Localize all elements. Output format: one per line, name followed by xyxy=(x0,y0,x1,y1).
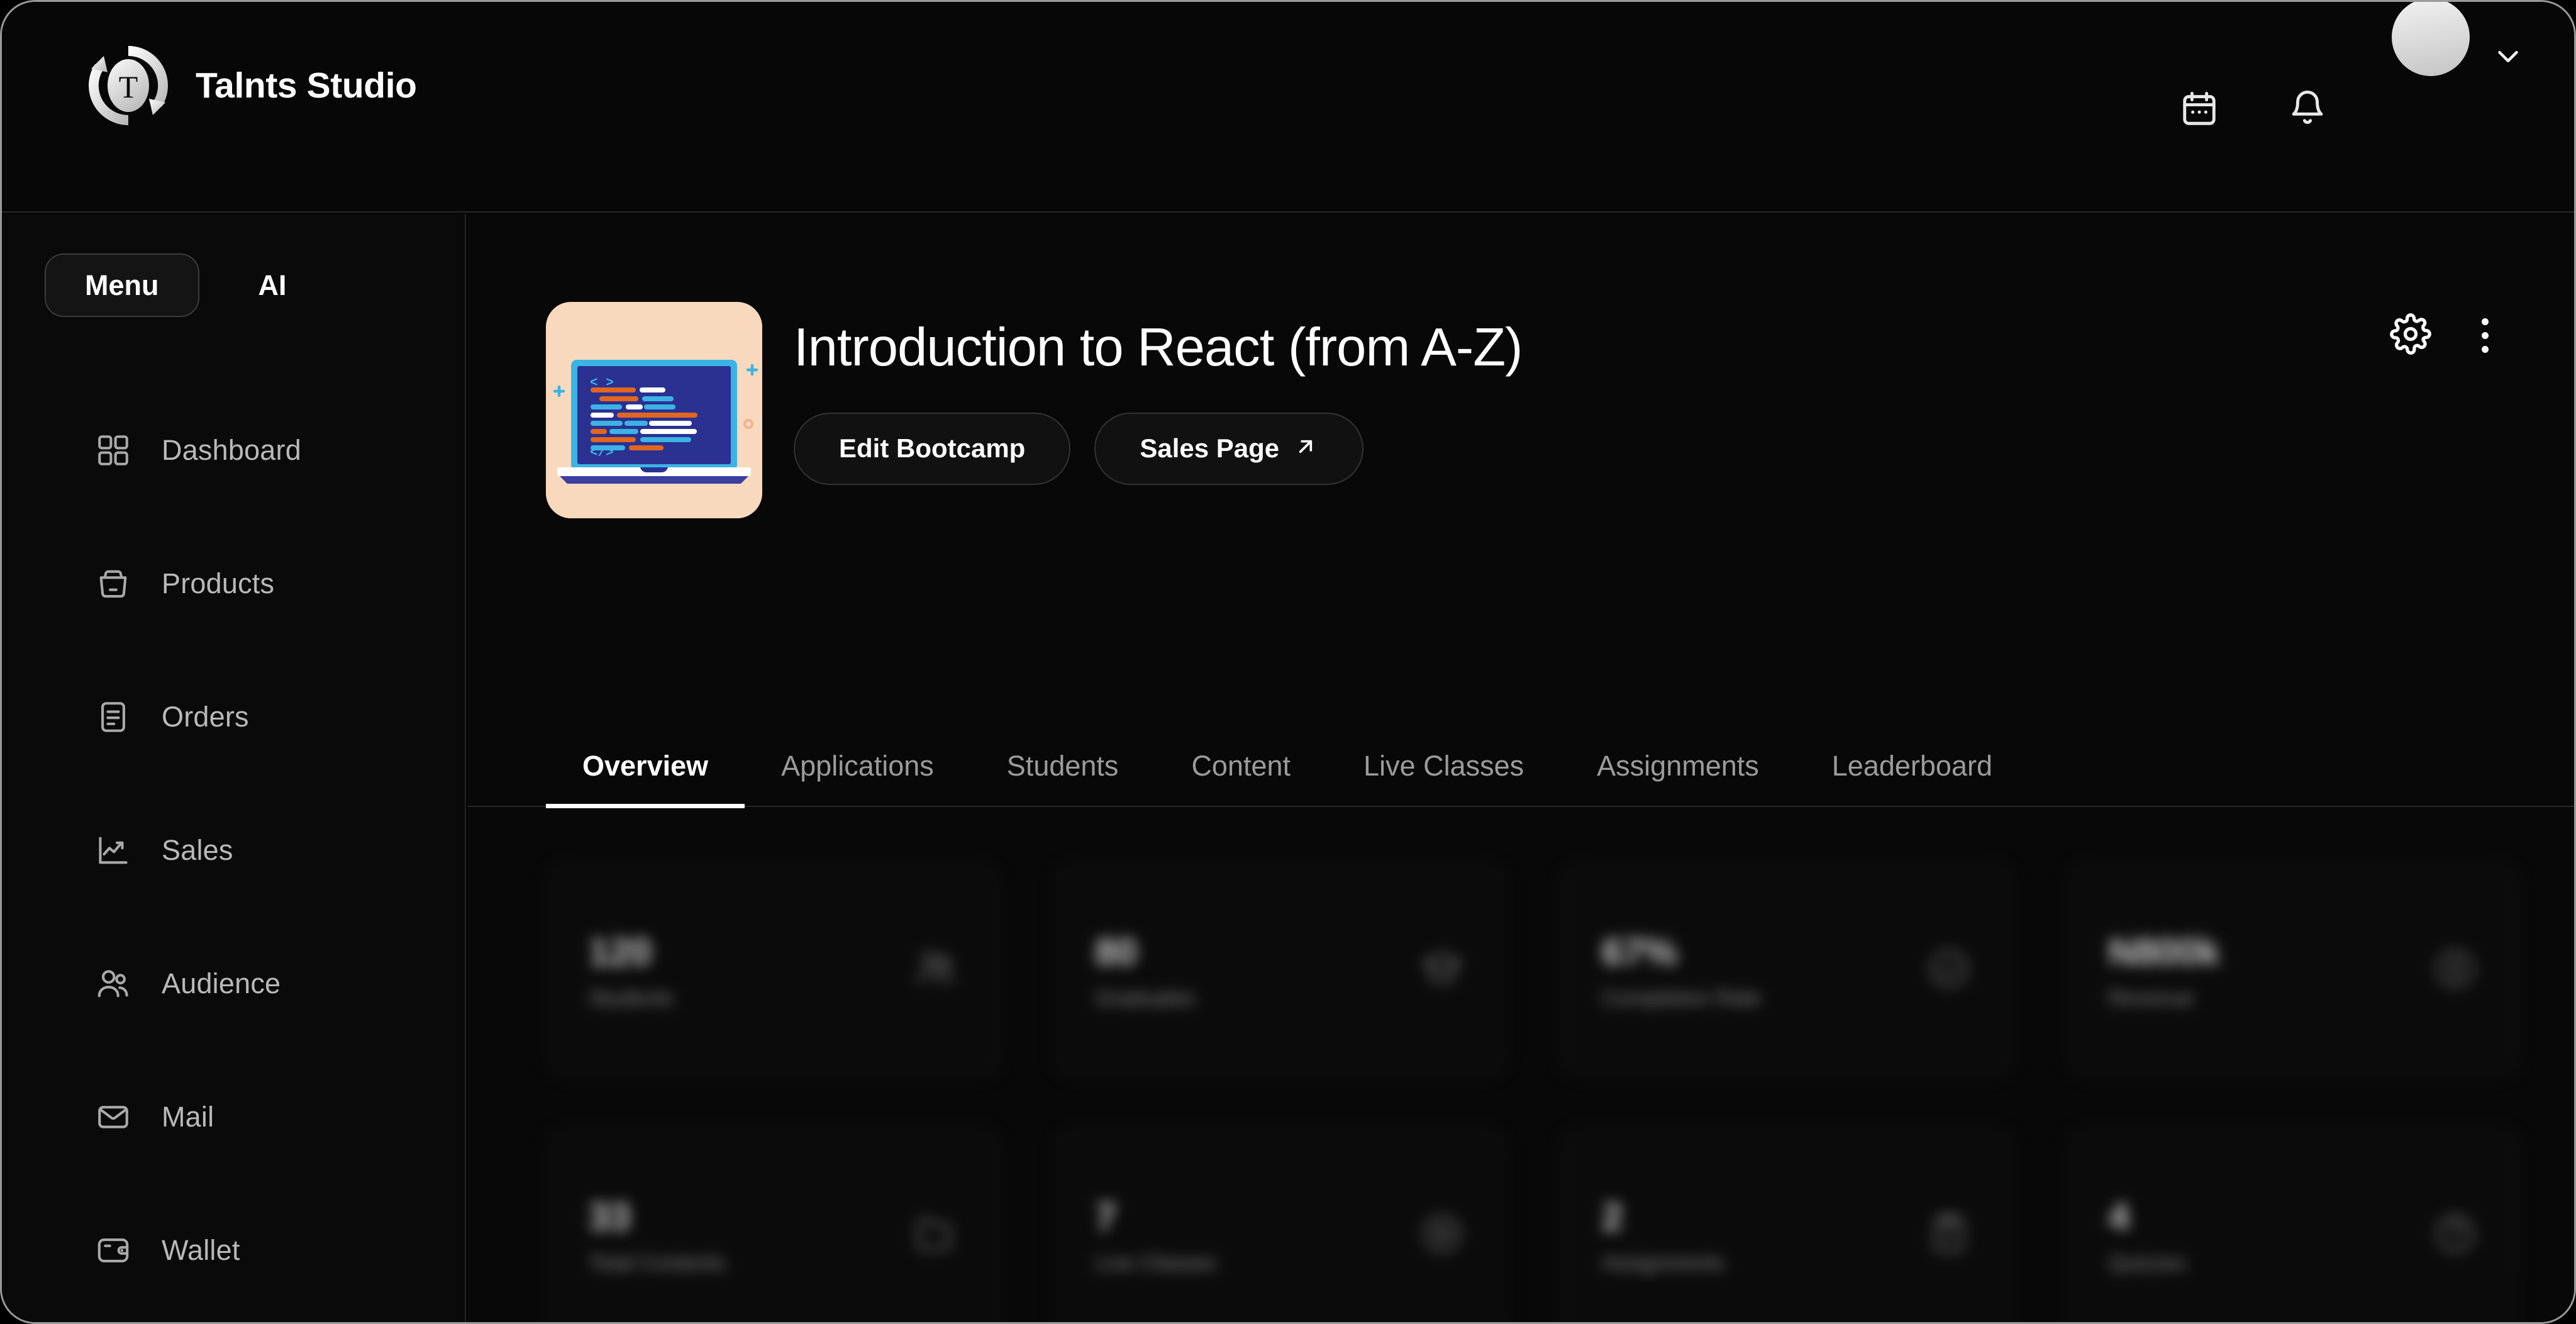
stat-value: 2 xyxy=(1602,1195,1724,1238)
sales-page-label: Sales Page xyxy=(1140,435,1279,462)
bell-icon[interactable] xyxy=(2279,79,2336,136)
arrow-up-right-icon xyxy=(1293,434,1318,464)
stat-card-completion-rate[interactable]: 67% Completion Rate xyxy=(1559,862,2014,1079)
course-tools xyxy=(2390,308,2502,363)
sidebar-mode-ai[interactable]: AI xyxy=(252,255,293,316)
stat-card-total-contents[interactable]: 33 Total Contents xyxy=(546,1127,1001,1324)
check-circle-icon xyxy=(1926,946,1972,994)
course-actions: Edit Bootcamp Sales Page xyxy=(794,413,1522,485)
avatar xyxy=(2392,0,2470,76)
box-icon xyxy=(94,564,133,603)
sidebar-item-label: Wallet xyxy=(162,1234,240,1267)
currency-icon xyxy=(2433,946,2478,994)
stat-value: 120 xyxy=(589,930,673,974)
tab-overview[interactable]: Overview xyxy=(546,750,745,808)
edit-bootcamp-label: Edit Bootcamp xyxy=(839,435,1025,462)
folder-icon xyxy=(913,1211,958,1259)
stat-card-graduates[interactable]: 80 Graduates xyxy=(1053,862,1508,1079)
stat-label: Quizzes xyxy=(2109,1251,2186,1276)
grid-icon xyxy=(94,431,133,470)
stat-value: 80 xyxy=(1096,930,1196,974)
stat-value: 33 xyxy=(589,1195,725,1238)
sidebar-mode-switch: Menu AI xyxy=(45,253,293,317)
stat-label: Students xyxy=(589,986,673,1011)
course-meta: Introduction to React (from A-Z) Edit Bo… xyxy=(794,302,1522,485)
top-header: T Talnts Studio xyxy=(2,2,2574,213)
tab-assignments[interactable]: Assignments xyxy=(1560,750,1796,808)
app-window: T Talnts Studio xyxy=(0,0,2576,1324)
brand-name: Talnts Studio xyxy=(196,65,417,106)
help-circle-icon xyxy=(2433,1211,2478,1259)
stat-label: Graduates xyxy=(1096,986,1196,1011)
user-menu[interactable] xyxy=(2392,40,2525,77)
sidebar-item-label: Dashboard xyxy=(162,434,301,467)
stats-grid: 120 Students 80 Graduates xyxy=(546,862,2521,1324)
stat-label: Assignments xyxy=(1602,1251,1724,1276)
stat-label: Completion Rate xyxy=(1602,986,1761,1011)
sidebar-item-label: Mail xyxy=(162,1101,214,1133)
sidebar-item-label: Sales xyxy=(162,834,233,867)
page-title: Introduction to React (from A-Z) xyxy=(794,318,1522,377)
trending-up-icon xyxy=(94,831,133,870)
tab-content[interactable]: Content xyxy=(1155,750,1327,808)
brand[interactable]: T Talnts Studio xyxy=(84,41,417,130)
stat-card-students[interactable]: 120 Students xyxy=(546,862,1001,1079)
stat-value: N800k xyxy=(2109,930,2220,974)
course-header: < > xyxy=(546,302,1522,518)
chevron-down-icon[interactable] xyxy=(2491,40,2525,77)
stat-card-live-classes[interactable]: 7 Live Classes xyxy=(1053,1127,1508,1324)
tab-applications[interactable]: Applications xyxy=(745,750,970,808)
users-icon xyxy=(94,964,133,1003)
tab-live-classes[interactable]: Live Classes xyxy=(1327,750,1560,808)
course-tabs: Overview Applications Students Content L… xyxy=(467,750,2576,807)
stat-value: 4 xyxy=(2109,1195,2186,1238)
wallet-icon xyxy=(94,1231,133,1270)
svg-text:T: T xyxy=(119,69,138,104)
stat-value: 7 xyxy=(1096,1195,1217,1238)
stat-value: 67% xyxy=(1602,930,1761,974)
laptop-code-thumbnail: < > xyxy=(546,302,762,518)
kebab-dot xyxy=(2482,318,2489,325)
sidebar-item-label: Audience xyxy=(162,967,280,1000)
stat-card-revenue[interactable]: N800k Revenue xyxy=(2066,862,2521,1079)
stat-card-assignments[interactable]: 2 Assignments xyxy=(1559,1127,2014,1324)
tab-leaderboard[interactable]: Leaderboard xyxy=(1796,750,2029,808)
sidebar-mode-menu[interactable]: Menu xyxy=(45,253,199,317)
calendar-icon[interactable] xyxy=(2170,80,2228,138)
clipboard-icon xyxy=(1926,1211,1972,1259)
more-vertical-icon[interactable] xyxy=(2468,308,2502,363)
main-content: < > xyxy=(467,214,2576,1324)
users-icon xyxy=(913,946,958,994)
kebab-dot xyxy=(2482,332,2489,339)
graduation-cap-icon xyxy=(1419,946,1465,994)
settings-gear-icon[interactable] xyxy=(2390,313,2431,358)
stat-card-quizzes[interactable]: 4 Quizzes xyxy=(2066,1127,2521,1324)
svg-text:</>: </> xyxy=(590,446,614,460)
sidebar-item-label: Products xyxy=(162,567,274,600)
sidebar-item-label: Orders xyxy=(162,701,249,733)
edit-bootcamp-button[interactable]: Edit Bootcamp xyxy=(794,413,1070,485)
talnts-logo-icon: T xyxy=(84,41,173,130)
kebab-dot xyxy=(2482,346,2489,353)
tab-students[interactable]: Students xyxy=(970,750,1155,808)
play-circle-icon xyxy=(1419,1211,1465,1259)
sales-page-button[interactable]: Sales Page xyxy=(1094,413,1363,485)
mail-icon xyxy=(94,1098,133,1137)
stat-label: Live Classes xyxy=(1096,1251,1217,1276)
stat-label: Revenue xyxy=(2109,986,2220,1011)
document-icon xyxy=(94,698,133,737)
stat-label: Total Contents xyxy=(589,1251,725,1276)
